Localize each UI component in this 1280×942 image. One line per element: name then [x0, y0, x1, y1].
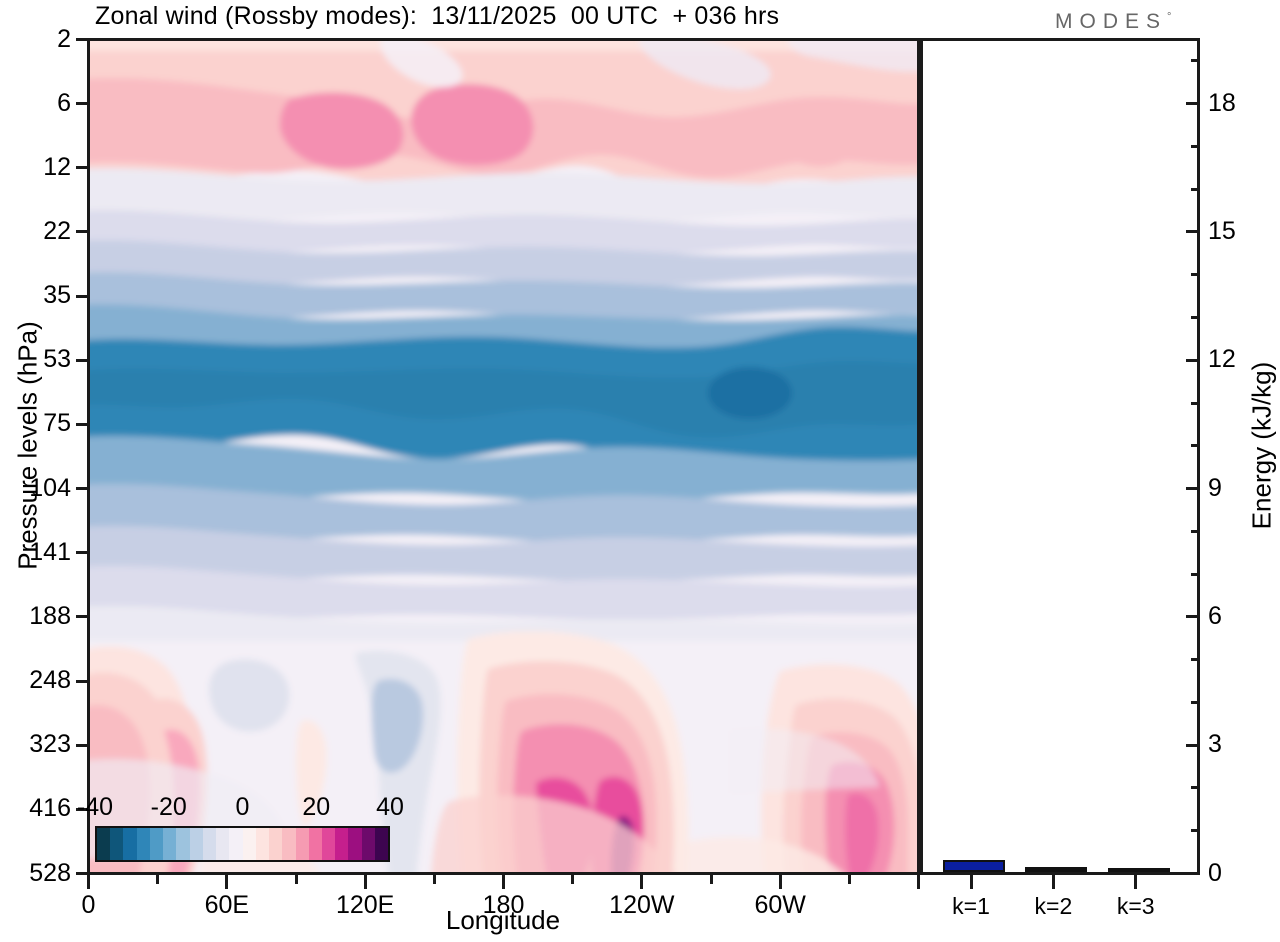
colorbar-swatch-11 — [243, 828, 256, 860]
colorbar-swatch-16 — [309, 828, 322, 860]
x-tick-5 — [433, 875, 436, 884]
right-tick-11 — [1191, 402, 1200, 405]
contour-field — [90, 41, 917, 872]
colorbar-swatch-19 — [348, 828, 361, 860]
figure: Zonal wind (Rossby modes): 13/11/2025 00… — [0, 0, 1280, 942]
x-tick-label-60W: 60W — [720, 893, 840, 918]
colorbar-swatch-1 — [110, 828, 123, 860]
y-tick-6 — [76, 102, 87, 105]
colorbar — [95, 826, 390, 862]
x-tick-10 — [779, 875, 782, 889]
x-tick-3 — [295, 875, 298, 884]
energy-bar-k3 — [1108, 868, 1170, 872]
colorbar-swatch-9 — [216, 828, 229, 860]
x-tick-label-120E: 120E — [305, 893, 425, 918]
colorbar-tick-label-40: 40 — [340, 795, 440, 820]
right-axis-title: Energy (kJ/kg) — [1247, 246, 1278, 646]
y-tick-label-141: 141 — [0, 540, 71, 565]
right-tick-4 — [1191, 701, 1200, 704]
x-tick-label-120W: 120W — [582, 893, 702, 918]
colorbar-swatch-8 — [203, 828, 216, 860]
colorbar-swatch-5 — [163, 828, 176, 860]
right-tick-17 — [1191, 145, 1200, 148]
right-tick-9 — [1186, 487, 1200, 490]
modes-logo-text: MODES — [1055, 10, 1167, 33]
y-tick-528 — [76, 872, 87, 875]
colorbar-swatch-4 — [150, 828, 163, 860]
y-tick-22 — [76, 230, 87, 233]
right-tick-5 — [1191, 658, 1200, 661]
colorbar-swatch-12 — [256, 828, 269, 860]
y-tick-label-6: 6 — [0, 91, 71, 116]
y-tick-35 — [76, 295, 87, 298]
y-tick-label-35: 35 — [0, 283, 71, 308]
y-tick-label-75: 75 — [0, 411, 71, 436]
y-tick-label-323: 323 — [0, 732, 71, 757]
colorbar-swatch-18 — [335, 828, 348, 860]
colorbar-swatch-13 — [269, 828, 282, 860]
bar-tick-k2 — [1052, 875, 1055, 889]
colorbar-swatch-10 — [229, 828, 242, 860]
right-tick-1 — [1191, 829, 1200, 832]
right-tick-label-15: 15 — [1208, 219, 1236, 244]
right-tick-label-3: 3 — [1208, 732, 1222, 757]
bar-label-k3: k=3 — [1076, 895, 1196, 918]
y-tick-188 — [76, 615, 87, 618]
colorbar-swatch-3 — [137, 828, 150, 860]
y-tick-label-104: 104 — [0, 476, 71, 501]
right-tick-3 — [1186, 744, 1200, 747]
colorbar-swatch-2 — [123, 828, 136, 860]
y-tick-label-248: 248 — [0, 668, 71, 693]
colorbar-swatch-6 — [176, 828, 189, 860]
colorbar-swatch-21 — [375, 828, 388, 860]
x-tick-2 — [225, 875, 228, 889]
colorbar-swatch-7 — [190, 828, 203, 860]
colorbar-swatch-15 — [296, 828, 309, 860]
right-tick-7 — [1191, 573, 1200, 576]
energy-bar-panel — [920, 38, 1200, 875]
right-tick-label-12: 12 — [1208, 347, 1236, 372]
x-tick-11 — [848, 875, 851, 884]
x-tick-12 — [917, 875, 920, 889]
y-tick-label-12: 12 — [0, 155, 71, 180]
right-tick-8 — [1191, 530, 1200, 533]
right-tick-label-0: 0 — [1208, 861, 1222, 886]
y-tick-75 — [76, 423, 87, 426]
colorbar-swatch-20 — [362, 828, 375, 860]
y-tick-141 — [76, 551, 87, 554]
x-tick-0 — [87, 875, 90, 889]
colorbar-swatch-17 — [322, 828, 335, 860]
modes-logo-mark: ° — [1167, 11, 1171, 23]
x-tick-8 — [640, 875, 643, 889]
right-tick-18 — [1186, 102, 1200, 105]
y-tick-12 — [76, 166, 87, 169]
x-tick-4 — [364, 875, 367, 889]
x-tick-label-180: 180 — [444, 893, 564, 918]
right-tick-6 — [1186, 615, 1200, 618]
modes-logo: MODES° — [1055, 10, 1171, 34]
y-tick-2 — [76, 38, 87, 41]
right-tick-15 — [1186, 230, 1200, 233]
bar-tick-k3 — [1134, 875, 1137, 889]
right-tick-16 — [1191, 188, 1200, 191]
y-tick-248 — [76, 680, 87, 683]
y-tick-53 — [76, 359, 87, 362]
bar-tick-k1 — [970, 875, 973, 889]
colorbar-swatch-14 — [282, 828, 295, 860]
x-tick-label-60E: 60E — [167, 893, 287, 918]
right-tick-label-6: 6 — [1208, 604, 1222, 629]
right-tick-0 — [1186, 872, 1200, 875]
right-tick-12 — [1186, 359, 1200, 362]
x-tick-1 — [156, 875, 159, 884]
page-title: Zonal wind (Rossby modes): 13/11/2025 00… — [95, 2, 955, 31]
right-tick-2 — [1191, 786, 1200, 789]
y-tick-label-2: 2 — [0, 27, 71, 52]
y-tick-104 — [76, 487, 87, 490]
right-tick-10 — [1191, 444, 1200, 447]
x-tick-7 — [571, 875, 574, 884]
y-tick-label-22: 22 — [0, 219, 71, 244]
colorbar-swatch-0 — [97, 828, 110, 860]
right-tick-19 — [1191, 59, 1200, 62]
x-tick-label-0: 0 — [29, 893, 149, 918]
right-tick-13 — [1191, 316, 1200, 319]
energy-bar-k1 — [943, 860, 1005, 872]
energy-bar-k2 — [1025, 867, 1087, 872]
right-tick-14 — [1191, 273, 1200, 276]
y-tick-323 — [76, 744, 87, 747]
right-tick-label-18: 18 — [1208, 91, 1236, 116]
x-tick-9 — [710, 875, 713, 884]
y-tick-label-53: 53 — [0, 347, 71, 372]
y-tick-label-528: 528 — [0, 861, 71, 886]
x-tick-6 — [502, 875, 505, 889]
contour-plot-panel — [87, 38, 920, 875]
right-tick-label-9: 9 — [1208, 476, 1222, 501]
y-tick-label-188: 188 — [0, 604, 71, 629]
